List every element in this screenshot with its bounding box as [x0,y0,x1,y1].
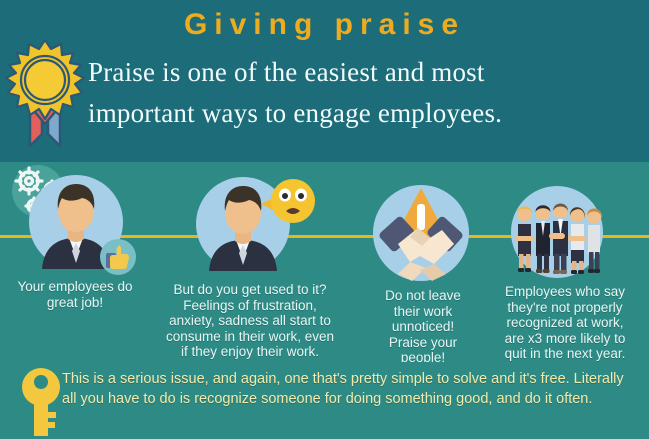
section-3-caption: Do not leave their work unnoticed! Prais… [353,288,493,366]
award-ribbon-icon [4,38,86,150]
businessman-with-worried-emoji-icon [185,172,315,276]
section-1-caption: Your employees do great job! [0,279,150,310]
header-banner: Giving praise Praise is one of the easie… [0,0,649,162]
subtitle-line-1: Praise is one of the easiest and most [88,52,644,93]
section-4-caption: Employees who say they're not properly r… [490,284,640,362]
footer-area: This is a serious issue, and again, one … [0,362,649,439]
infographic-page: Giving praise Praise is one of the easie… [0,0,649,439]
subtitle-line-2: important ways to engage employees. [88,93,644,134]
group-of-business-people-icon [505,184,609,284]
footer-text: This is a serious issue, and again, one … [62,370,637,409]
section-2-caption: But do you get used to it? Feelings of f… [140,282,360,360]
page-title: Giving praise [0,6,649,44]
header-subtitle: Praise is one of the easiest and most im… [88,52,644,134]
sections-area: Your employees do great job! [0,162,649,362]
handshake-with-warning-triangle-icon [368,182,474,284]
businessman-with-gears-and-thumbs-up-icon [14,165,134,273]
key-icon [14,366,68,438]
